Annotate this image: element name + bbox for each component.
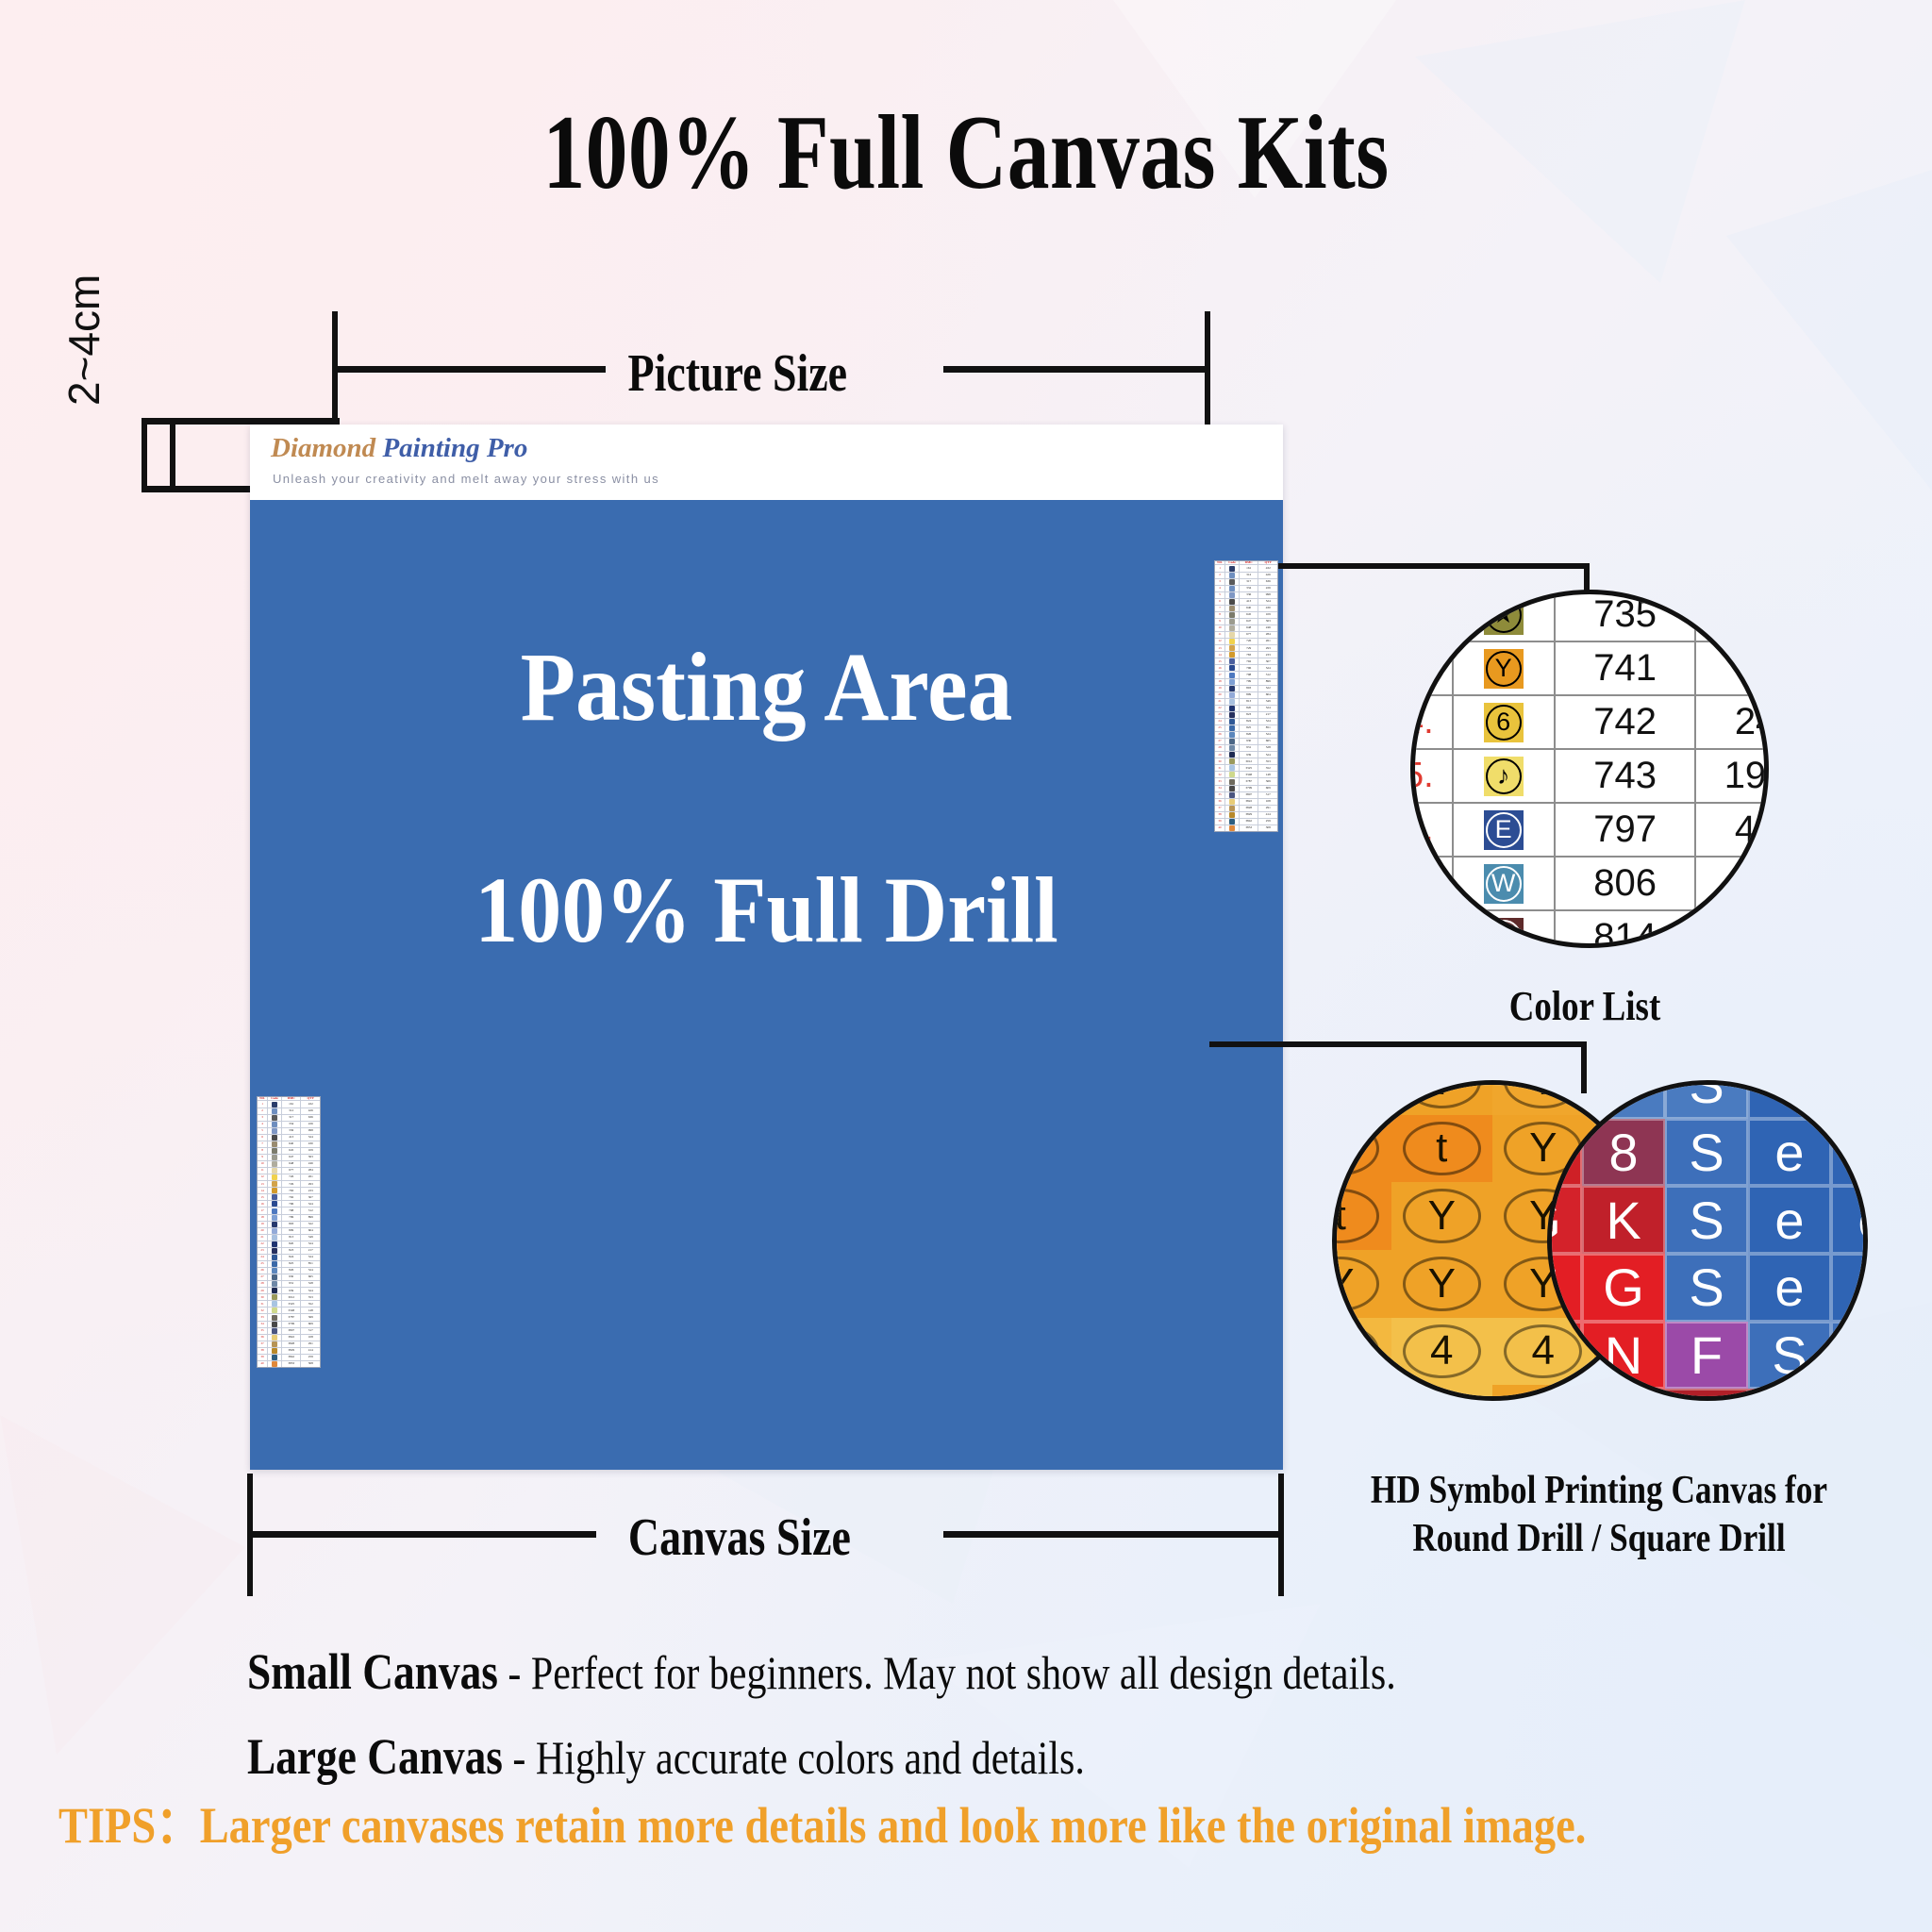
large-canvas-lead: Large Canvas [247, 1728, 503, 1785]
mini-cell-swatch [268, 1281, 282, 1287]
mini-cell-no: 6 [1215, 599, 1225, 605]
color-list-caption-text: Color List [1509, 983, 1661, 1029]
mini-cell-code: 930 [282, 1274, 302, 1280]
mini-cell-no: 21 [258, 1235, 268, 1241]
mini-color-list-row: 303012353 [258, 1294, 320, 1301]
mini-cell-swatch [1225, 806, 1240, 811]
mini-color-list-row: 29939524 [1215, 752, 1277, 758]
mini-color-list-row: 15792307 [258, 1194, 320, 1201]
mini-cell-no: 18 [258, 1215, 268, 1221]
mini-cell-no: 32 [258, 1307, 268, 1313]
mini-cell-code: 3325 [282, 1301, 302, 1307]
mini-cell-no: 6 [258, 1135, 268, 1141]
color-list-index: 18. [1410, 911, 1454, 948]
mini-cell-no: 28 [258, 1281, 268, 1287]
mini-cell-qty: 528 [1258, 745, 1277, 751]
mini-cell-swatch [268, 1215, 282, 1221]
mini-cell-code: 726 [282, 1174, 302, 1180]
mini-cell-no: 5 [258, 1128, 268, 1134]
mini-cell-swatch [268, 1201, 282, 1207]
mini-cell-swatch [268, 1228, 282, 1234]
mini-cell-code: 826 [282, 1268, 302, 1274]
square-drill-cell: G [1547, 1186, 1582, 1254]
mini-cell-no: 19 [1215, 686, 1225, 691]
mini-cell-qty: 636 [1258, 579, 1277, 585]
square-drill-cell: e [1748, 1080, 1831, 1119]
mini-color-list-row: 12726261 [1215, 639, 1277, 645]
mini-cell-qty: 524 [301, 1241, 320, 1247]
mini-cell-qty: 528 [301, 1281, 320, 1287]
mini-color-list-row: 28931528 [258, 1281, 320, 1288]
mini-cell-code: 3842 [282, 1355, 302, 1360]
mini-cell-code: 677 [282, 1168, 302, 1174]
mini-cell-swatch [1225, 652, 1240, 658]
margin-tick-left [142, 418, 147, 492]
mini-cell-no: 37 [258, 1341, 268, 1347]
square-drill-cell: G [1547, 1119, 1582, 1187]
mini-cell-no: 18 [1215, 679, 1225, 685]
mini-cell-qty: 522 [301, 1222, 320, 1227]
mini-cell-code: 3325 [1240, 765, 1259, 771]
mini-cell-swatch [268, 1301, 282, 1307]
mini-cell-code: 813 [282, 1235, 302, 1241]
round-drill-cell: Y [1332, 1250, 1391, 1318]
mini-cell-code: 729 [282, 1181, 302, 1187]
canvas-size-label: Canvas Size [628, 1511, 851, 1564]
round-drill-cell: Y [1391, 1182, 1493, 1250]
mini-color-list-row: 8645109 [1215, 612, 1277, 619]
mini-cell-code: 413 [1240, 599, 1259, 605]
mini-cell-no: 30 [1215, 758, 1225, 764]
square-drill-cell: N [1547, 1389, 1582, 1401]
mini-color-list-row: 2312426 [258, 1108, 320, 1115]
drill-leader-horizontal [1209, 1041, 1587, 1047]
square-drill-cell: N [1547, 1322, 1582, 1390]
mini-cell-no: 35 [1215, 792, 1225, 798]
mini-cell-no: 22 [1215, 706, 1225, 711]
mini-color-list-row: 383829414 [1215, 812, 1277, 819]
mini-cell-no: 16 [1215, 665, 1225, 671]
mini-cell-qty: 851 [301, 1261, 320, 1267]
mini-cell-qty: 226 [1258, 586, 1277, 591]
mini-cell-qty: 217 [301, 1248, 320, 1254]
tips-line: TIPS：Larger canvases retain more details… [58, 1800, 1835, 1851]
mini-color-list-row: 2312426 [1215, 573, 1277, 579]
mini-cell-swatch [268, 1235, 282, 1241]
mini-cell-no: 29 [1215, 752, 1225, 758]
mini-cell-code: 161 [1240, 565, 1259, 571]
mini-cell-no: 15 [1215, 658, 1225, 664]
mini-cell-swatch [268, 1148, 282, 1154]
mini-cell-no: 26 [1215, 732, 1225, 738]
color-list-row: ★735 [1410, 590, 1769, 642]
mini-cell-qty: 524 [1258, 732, 1277, 738]
mini-cell-code: 3822 [282, 1335, 302, 1341]
mini-cell-code: 648 [282, 1161, 302, 1167]
mini-cell-code: 930 [1240, 739, 1259, 744]
mini-cell-swatch [1225, 679, 1240, 685]
mini-cell-no: 14 [1215, 652, 1225, 658]
mini-cell-code: 3829 [282, 1348, 302, 1354]
mini-cell-qty: 998 [301, 1128, 320, 1134]
mini-col-0: NO. [1215, 561, 1225, 564]
mini-color-list-row: 16796524 [258, 1201, 320, 1207]
mini-col-1: Code [268, 1097, 282, 1100]
mini-cell-code: 729 [1240, 645, 1259, 651]
mini-cell-qty: 259 [1258, 819, 1277, 824]
mini-cell-qty: 284 [1258, 632, 1277, 638]
mini-color-list-row: 3317636 [1215, 579, 1277, 586]
mini-cell-code: 3799 [1240, 786, 1259, 791]
mini-cell-qty: 609 [1258, 786, 1277, 791]
mini-color-list-row: 24824524 [258, 1255, 320, 1261]
square-drill-cell: K [1582, 1186, 1665, 1254]
mini-cell-qty: 259 [301, 1355, 320, 1360]
mini-cell-code: 792 [1240, 658, 1259, 664]
mini-cell-code: 3853 [1240, 825, 1259, 831]
picture-size-label: Picture Size [628, 347, 847, 400]
mini-cell-code: 3348 [1240, 772, 1259, 777]
mini-cell-swatch [1225, 625, 1240, 631]
mini-cell-no: 23 [258, 1248, 268, 1254]
mini-cell-code: 799 [1240, 679, 1259, 685]
mini-color-list-row: 23823217 [1215, 712, 1277, 719]
mini-cell-qty: 352 [1258, 765, 1277, 771]
color-list-row: 18.D81440 [1410, 911, 1769, 948]
mini-cell-qty: 246 [1258, 625, 1277, 631]
mini-cell-swatch [1225, 825, 1240, 831]
mini-color-list-row: 16796524 [1215, 665, 1277, 672]
mini-cell-no: 3 [1215, 579, 1225, 585]
poster-canvas: 100% Full Canvas Kits Picture Size 2~4cm… [0, 0, 1932, 1932]
mini-cell-no: 8 [1215, 612, 1225, 618]
mini-cell-qty: 108 [1258, 799, 1277, 805]
mini-cell-no: 7 [1215, 606, 1225, 611]
mini-cell-qty: 414 [1258, 812, 1277, 818]
mini-cell-code: 336 [1240, 592, 1259, 598]
mini-cell-code: 799 [282, 1215, 302, 1221]
mini-cell-swatch [268, 1101, 282, 1107]
mini-cell-no: 24 [1215, 719, 1225, 724]
color-list-symbol-swatch: ♪ [1454, 750, 1556, 802]
mini-cell-code: 824 [1240, 719, 1259, 724]
mini-color-list-row: 313325352 [1215, 765, 1277, 772]
square-drill-grid: GSSeeG8SeeGKSeeNGSeeNNFSSNNKKK [1547, 1080, 1868, 1401]
mini-cell-qty: 308 [301, 1361, 320, 1367]
mini-cell-swatch [1225, 732, 1240, 738]
mini-cell-qty: 430 [1258, 606, 1277, 611]
mini-color-list-left: NO.CodeDMCQTY116143223124263317636433422… [257, 1096, 321, 1368]
mini-cell-no: 8 [258, 1148, 268, 1154]
mini-cell-code: 3828 [1240, 806, 1259, 811]
mini-cell-code: 726 [1240, 639, 1259, 644]
mini-cell-qty: 636 [301, 1115, 320, 1121]
square-drill-cell: N [1582, 1389, 1665, 1401]
mini-cell-code: 647 [282, 1155, 302, 1160]
mini-cell-no: 13 [1215, 645, 1225, 651]
mini-cell-no: 13 [258, 1181, 268, 1187]
mini-cell-qty: 109 [301, 1148, 320, 1154]
brand-name-part1: Diamond [271, 433, 375, 463]
mini-cell-swatch [1225, 686, 1240, 691]
mini-color-list-row: 373828291 [1215, 806, 1277, 812]
mini-cell-code: 820 [282, 1241, 302, 1247]
square-drill-cell: e [1831, 1119, 1868, 1187]
mini-cell-code: 648 [1240, 625, 1259, 631]
mini-color-list-row: 18799899 [1215, 679, 1277, 686]
mini-cell-swatch [268, 1314, 282, 1320]
square-drill-cell: e [1748, 1186, 1831, 1254]
square-drill-cell: S [1665, 1080, 1748, 1119]
mini-cell-no: 38 [1215, 812, 1225, 818]
mini-cell-code: 783 [1240, 652, 1259, 658]
mini-color-list-row: 17798312 [258, 1207, 320, 1214]
mini-cell-code: 3787 [282, 1314, 302, 1320]
mini-cell-qty: 363 [301, 1155, 320, 1160]
round-drill-cell: t [1332, 1115, 1391, 1183]
mini-cell-qty: 524 [301, 1255, 320, 1260]
brand-tagline: Unleash your creativity and melt away yo… [273, 472, 659, 486]
mini-color-list-row: 15792307 [1215, 658, 1277, 665]
round-drill-cell: 4 [1391, 1385, 1493, 1401]
mini-cell-code: 939 [282, 1288, 302, 1293]
mini-cell-qty: 363 [1258, 619, 1277, 625]
mini-cell-no: 21 [1215, 699, 1225, 705]
mini-cell-swatch [268, 1288, 282, 1293]
mini-cell-swatch [268, 1194, 282, 1200]
mini-cell-code: 312 [282, 1108, 302, 1114]
mini-cell-no: 30 [258, 1294, 268, 1300]
mini-cell-no: 12 [258, 1174, 268, 1180]
mini-color-list-row: 353807317 [258, 1328, 320, 1335]
mini-color-list-row: 14783233 [1215, 652, 1277, 658]
mini-cell-swatch [268, 1207, 282, 1213]
mini-cell-qty: 524 [1258, 719, 1277, 724]
mini-cell-no: 7 [258, 1141, 268, 1147]
mini-cell-no: 1 [1215, 565, 1225, 571]
mini-cell-swatch [1225, 612, 1240, 618]
small-canvas-lead: Small Canvas [247, 1643, 498, 1700]
mini-cell-swatch [1225, 606, 1240, 611]
mini-color-list-row: 1161432 [1215, 565, 1277, 572]
color-list-code: 735 [1556, 590, 1697, 641]
mini-cell-swatch [268, 1188, 282, 1193]
mini-cell-no: 24 [258, 1255, 268, 1260]
brand-header: Diamond Painting Pro Unleash your creati… [250, 425, 1283, 500]
margin-tick-right [170, 425, 175, 492]
mini-color-list-right: NO.CodeDMCQTY116143223124263317636433422… [1214, 560, 1278, 832]
mini-cell-no: 27 [1215, 739, 1225, 744]
mini-cell-no: 31 [1215, 765, 1225, 771]
mini-color-list-row: 27930665 [1215, 739, 1277, 745]
mini-cell-qty: 148 [1258, 772, 1277, 777]
mini-cell-no: 11 [258, 1168, 268, 1174]
mini-cell-swatch [1225, 812, 1240, 818]
mini-cell-swatch [1225, 819, 1240, 824]
pasting-area-label: Pasting Area [291, 639, 1241, 737]
mini-cell-qty: 312 [301, 1207, 320, 1213]
mini-cell-swatch [1225, 586, 1240, 591]
mini-cell-no: 25 [1215, 725, 1225, 731]
mini-cell-no: 1 [258, 1101, 268, 1107]
color-list-index: 17. [1410, 858, 1454, 909]
mini-cell-no: 34 [1215, 786, 1225, 791]
canvas-size-rule-left [247, 1531, 596, 1538]
canvas-size-rule-right [943, 1531, 1284, 1538]
mini-cell-no: 15 [258, 1194, 268, 1200]
mini-cell-swatch [268, 1307, 282, 1313]
color-list-magnifier: ★735.Y741114.674224815.♪743192116.E79741… [1410, 590, 1769, 948]
square-drill-cell: S [1665, 1186, 1748, 1254]
square-drill-cell: N [1582, 1322, 1665, 1390]
color-list-table: ★735.Y741114.674224815.♪743192116.E79741… [1410, 590, 1769, 948]
mini-cell-qty: 426 [301, 1108, 320, 1114]
mini-cell-no: 34 [258, 1322, 268, 1327]
mini-cell-code: 825 [282, 1261, 302, 1267]
mini-cell-qty: 349 [301, 1235, 320, 1241]
mini-color-list-row: 25825851 [258, 1261, 320, 1268]
mini-cell-no: 37 [1215, 806, 1225, 811]
square-drill-cell: G [1582, 1254, 1665, 1322]
mini-cell-qty: 524 [1258, 706, 1277, 711]
mini-color-list-row: 5336998 [1215, 592, 1277, 599]
mini-cell-code: 317 [282, 1115, 302, 1121]
mini-cell-qty: 284 [301, 1168, 320, 1174]
mini-cell-no: 9 [258, 1155, 268, 1160]
mini-cell-qty: 665 [301, 1274, 320, 1280]
mini-cell-no: 2 [258, 1108, 268, 1114]
square-drill-cell: S [1831, 1322, 1868, 1390]
mini-color-list-row: 353807317 [1215, 792, 1277, 799]
color-list-code: 743 [1556, 750, 1697, 802]
mini-color-list-row: 4334226 [1215, 586, 1277, 592]
mini-cell-swatch [1225, 745, 1240, 751]
square-drill-cell: e [1748, 1119, 1831, 1187]
mini-cell-swatch [268, 1255, 282, 1260]
mini-cell-swatch [1225, 792, 1240, 798]
mini-cell-no: 10 [258, 1161, 268, 1167]
mini-cell-no: 4 [258, 1122, 268, 1127]
mini-cell-code: 3807 [1240, 792, 1259, 798]
mini-cell-swatch [268, 1341, 282, 1347]
color-list-code: 797 [1556, 804, 1697, 856]
mini-cell-swatch [268, 1122, 282, 1127]
mini-cell-swatch [268, 1222, 282, 1227]
mini-color-list-row: 29939524 [258, 1288, 320, 1294]
mini-color-list-row: 3317636 [258, 1115, 320, 1122]
mini-cell-no: 33 [1215, 778, 1225, 784]
mini-cell-swatch [268, 1248, 282, 1254]
color-list-row: 16.E797414 [1410, 804, 1769, 858]
mini-cell-qty: 524 [301, 1288, 320, 1293]
color-list-index: 16. [1410, 804, 1454, 856]
mini-cell-qty: 291 [301, 1341, 320, 1347]
mini-color-list-row: 333787369 [258, 1314, 320, 1321]
mini-cell-code: 3799 [282, 1322, 302, 1327]
mini-cell-code: 647 [1240, 619, 1259, 625]
color-list-row: 15.♪7431921 [1410, 750, 1769, 804]
color-list-symbol-swatch: W [1454, 858, 1556, 909]
mini-cell-no: 26 [258, 1268, 268, 1274]
mini-color-list-row: 20809604 [258, 1228, 320, 1235]
mini-cell-qty: 432 [1258, 565, 1277, 571]
picture-size-rule-left [332, 366, 606, 373]
mini-cell-swatch [1225, 778, 1240, 784]
mini-cell-swatch [1225, 706, 1240, 711]
mini-cell-qty: 312 [1258, 672, 1277, 677]
mini-cell-swatch [1225, 672, 1240, 677]
round-drill-cell: Y [1391, 1080, 1493, 1115]
square-drill-cell: e [1831, 1080, 1868, 1119]
canvas-sheet: Diamond Painting Pro Unleash your creati… [250, 425, 1283, 1470]
margin-size-label: 2~4cm [58, 275, 109, 406]
mini-cell-swatch [268, 1174, 282, 1180]
mini-color-list-row: 19803522 [1215, 686, 1277, 692]
mini-cell-code: 640 [1240, 606, 1259, 611]
mini-cell-no: 10 [1215, 625, 1225, 631]
mini-cell-qty: 524 [1258, 599, 1277, 605]
mini-cell-qty: 293 [301, 1181, 320, 1187]
round-drill-cell: Y [1391, 1250, 1493, 1318]
color-list-code: 814 [1556, 911, 1697, 948]
mini-cell-qty: 352 [301, 1301, 320, 1307]
mini-cell-code: 3828 [282, 1341, 302, 1347]
mini-cell-qty: 522 [1258, 686, 1277, 691]
color-list-symbol-swatch: 6 [1454, 696, 1556, 748]
mini-cell-code: 823 [282, 1248, 302, 1254]
mini-cell-qty: 108 [301, 1335, 320, 1341]
mini-color-list-row: 27930665 [258, 1274, 320, 1281]
mini-color-list-row: 323348148 [258, 1307, 320, 1314]
mini-color-list-row: 1161432 [258, 1101, 320, 1108]
mini-color-list-row: 17798312 [1215, 672, 1277, 678]
mini-cell-qty: 293 [1258, 645, 1277, 651]
mini-cell-code: 3348 [282, 1307, 302, 1313]
mini-cell-qty: 261 [301, 1174, 320, 1180]
color-list-qty: 40 [1696, 911, 1769, 948]
mini-cell-swatch [1225, 719, 1240, 724]
mini-cell-no: 33 [258, 1314, 268, 1320]
mini-cell-code: 931 [1240, 745, 1259, 751]
mini-color-list-row: 11677284 [258, 1168, 320, 1174]
drill-caption-line1: HD Symbol Printing Canvas for [1349, 1467, 1848, 1515]
mini-cell-swatch [1225, 739, 1240, 744]
mini-cell-code: 3807 [282, 1328, 302, 1334]
mini-cell-code: 803 [1240, 686, 1259, 691]
mini-cell-code: 161 [282, 1101, 302, 1107]
square-drill-cell: G [1547, 1080, 1582, 1119]
round-drill-cell: t [1391, 1115, 1493, 1183]
mini-color-list-row: 333787369 [1215, 778, 1277, 785]
mini-color-list-row: 20809604 [1215, 692, 1277, 699]
mini-cell-swatch [1225, 752, 1240, 758]
mini-cell-swatch [1225, 772, 1240, 777]
mini-cell-swatch [1225, 579, 1240, 585]
mini-cell-code: 824 [282, 1255, 302, 1260]
mini-cell-swatch [1225, 632, 1240, 638]
mini-cell-code: 336 [282, 1128, 302, 1134]
round-drill-cell: 4 [1391, 1318, 1493, 1386]
mini-cell-qty: 233 [1258, 652, 1277, 658]
mini-cell-qty: 353 [301, 1294, 320, 1300]
mini-cell-qty: 998 [1258, 592, 1277, 598]
mini-cell-swatch [1225, 699, 1240, 705]
mini-color-list-row: 13729293 [1215, 645, 1277, 652]
mini-color-list-row: 21813349 [258, 1235, 320, 1241]
brand-name: Diamond Painting Pro [271, 433, 527, 464]
mini-cell-no: 14 [258, 1188, 268, 1193]
mini-cell-qty: 604 [301, 1228, 320, 1234]
